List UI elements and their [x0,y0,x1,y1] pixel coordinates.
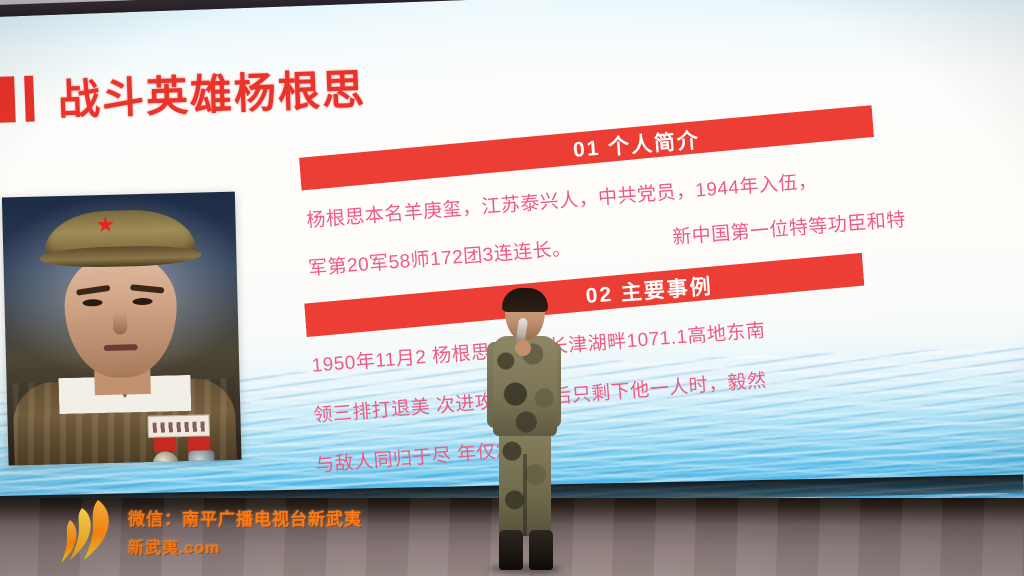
watermark-site-line: 新武夷.com [128,534,362,558]
broadcaster-watermark: 微信：南平广播电视台新武夷 新武夷.com [58,494,362,568]
speaker-person [487,292,563,574]
portrait-mouth [104,344,138,351]
section-01-line-2: 新中国第一位特等功臣和特 [671,205,906,250]
speaker-hair [502,288,548,312]
speaker-hand [515,340,531,356]
portrait-name-placard [147,414,210,438]
watermark-text: 微信：南平广播电视台新武夷 新武夷.com [128,505,362,558]
portrait-medal-ribbon [154,437,176,452]
title-bar-marker [24,75,35,121]
portrait-nose [113,312,128,334]
speaker-boot-left [499,530,523,570]
speaker-legs [499,430,551,536]
portrait-photo [2,192,242,466]
speaker-boot-right [529,530,553,570]
watermark-wechat-line: 微信：南平广播电视台新武夷 [128,505,362,530]
slide-title-row: 战斗英雄杨根思 [0,56,367,131]
page-title: 战斗英雄杨根思 [57,56,367,128]
screenshot-frame: 战斗英雄杨根思 [0,0,1024,576]
section-banner-01-label: 01 个人简介 [472,124,701,171]
station-logo-icon [58,494,120,568]
title-square-marker [0,76,16,123]
section-01-line-3: 军第20军58师172团3连连长。 [307,233,572,280]
portrait-medal-ribbon [188,436,210,451]
